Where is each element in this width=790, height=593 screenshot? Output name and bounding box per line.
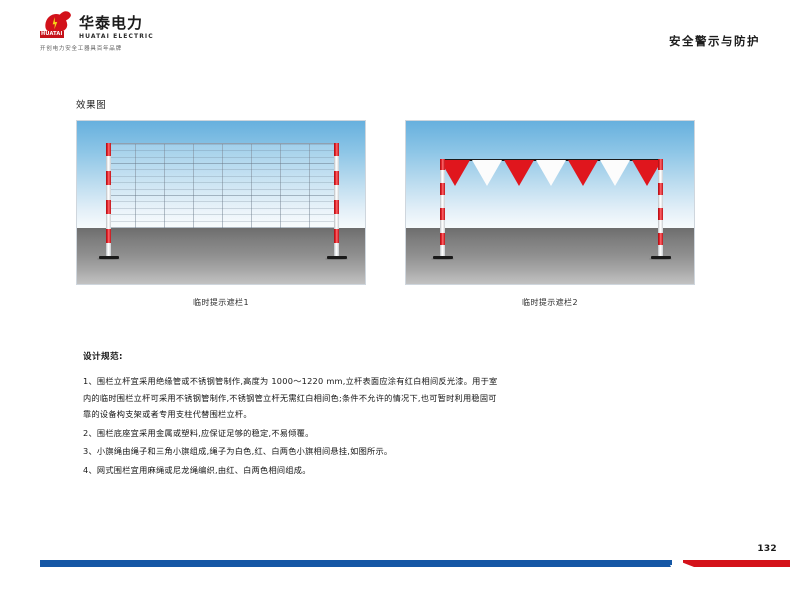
page-number: 132 — [757, 544, 777, 554]
post-base-plate — [327, 256, 347, 259]
figure-caption-2: 临时提示遮栏2 — [405, 297, 695, 308]
flame-lightning-icon: HUATAI — [40, 14, 74, 40]
footer-red-segment — [683, 560, 790, 567]
pennant-flag — [536, 160, 566, 186]
post-base-plate — [99, 256, 119, 259]
pennant-flag-row — [440, 160, 662, 186]
page-header: HUATAI 华泰电力 HUATAI ELECTRIC 开创电力安全工器具百年品… — [0, 0, 790, 62]
spec-item-4: 4、网式围栏宜用麻绳或尼龙绳编织,由红、白两色相间组成。 — [83, 462, 503, 479]
figure-pennant-barrier — [405, 120, 695, 285]
post-base-plate — [651, 256, 671, 259]
spec-item-2: 2、围栏底座宜采用金属或塑料,应保证足够的稳定,不易倾覆。 — [83, 425, 503, 442]
page-title: 安全警示与防护 — [669, 33, 760, 49]
post-base-plate — [433, 256, 453, 259]
logo-slogan: 开创电力安全工器具百年品牌 — [40, 44, 122, 52]
pennant-flag — [472, 160, 502, 186]
barrier-post-right — [658, 159, 663, 257]
mesh-net — [106, 144, 338, 228]
propeller-arrow-icon — [656, 556, 696, 571]
pennant-flag — [568, 160, 598, 186]
logo-english-name: HUATAI ELECTRIC — [79, 32, 154, 41]
design-specification-block: 设计规范: 1、围栏立杆宜采用绝缘管或不锈钢管制作,高度为 1000～1220 … — [83, 350, 503, 480]
ground-background — [77, 228, 365, 284]
figure-mesh-barrier — [76, 120, 366, 285]
section-label-effect-diagram: 效果图 — [76, 97, 106, 111]
barrier-post-left — [440, 159, 445, 257]
figure-caption-1: 临时提示遮栏1 — [76, 297, 366, 308]
brand-logo: HUATAI 华泰电力 HUATAI ELECTRIC — [40, 14, 154, 41]
spec-title: 设计规范: — [83, 350, 503, 362]
barrier-post-right — [334, 143, 339, 257]
spec-item-3: 3、小旗绳由绳子和三角小旗组成,绳子为白色,红、白两色小旗相间悬挂,如图所示。 — [83, 443, 503, 460]
barrier-post-left — [106, 143, 111, 257]
header-divider — [56, 57, 790, 59]
page-footer-bar — [40, 560, 790, 567]
logo-chinese-name: 华泰电力 — [79, 15, 154, 31]
spec-item-1: 1、围栏立杆宜采用绝缘管或不锈钢管制作,高度为 1000～1220 mm,立杆表… — [83, 373, 503, 423]
logo-badge-label: HUATAI — [40, 31, 64, 38]
pennant-flag — [504, 160, 534, 186]
footer-blue-segment — [40, 560, 672, 567]
pennant-flag — [600, 160, 630, 186]
